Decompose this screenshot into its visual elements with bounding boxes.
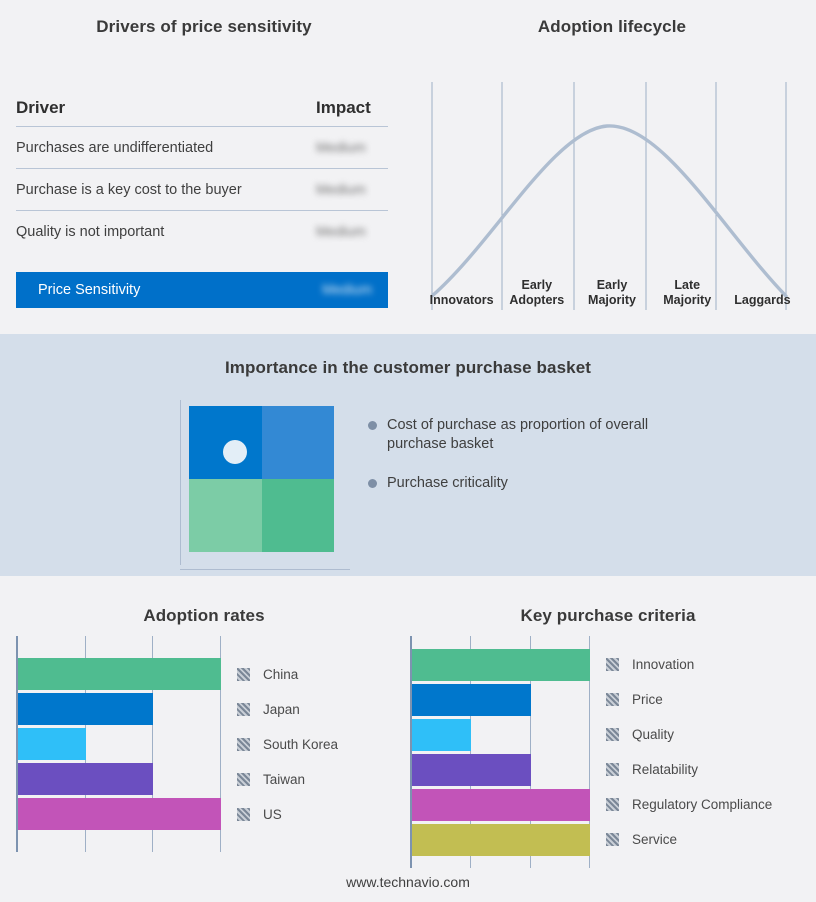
chart-legend: ChinaJapanSouth KoreaTaiwanUS [237, 636, 387, 852]
legend-label: Price [632, 692, 663, 707]
driver-label: Quality is not important [16, 224, 164, 240]
legend-item: Regulatory Compliance [606, 787, 796, 822]
impact-value-blurred: Medium [316, 139, 366, 155]
price-sensitivity-impact: Medium [322, 281, 372, 299]
driver-label: Purchases are undifferentiated [16, 140, 213, 156]
bar-row [18, 728, 223, 760]
plot-area [16, 636, 221, 852]
drivers-title: Drivers of price sensitivity [0, 17, 408, 37]
impact-value: Medium [316, 223, 388, 240]
bar-row [412, 824, 592, 856]
table-row: Purchase is a key cost to the buyer Medi… [16, 169, 388, 211]
matrix-quadrant-bottom-right [262, 479, 335, 552]
chart-legend: InnovationPriceQualityRelatabilityRegula… [606, 636, 796, 868]
lifecycle-plot: Innovators Early Adopters Early Majority… [424, 82, 800, 310]
bullet-dot-icon [368, 479, 377, 488]
lifecycle-segment-laggards: Laggards [725, 266, 800, 310]
legend-label: Service [632, 832, 677, 847]
legend-item: China [237, 657, 387, 692]
legend-swatch-icon [606, 728, 619, 741]
impact-value-blurred: Medium [316, 223, 366, 239]
bullet-label: Cost of purchase as proportion of overal… [387, 416, 668, 454]
legend-label: US [263, 807, 282, 822]
bar-row [18, 798, 223, 830]
footer-url: www.technavio.com [0, 874, 816, 890]
legend-item: Innovation [606, 647, 796, 682]
purchase-basket-title: Importance in the customer purchase bask… [0, 358, 816, 378]
legend-item: Service [606, 822, 796, 857]
bar-price [412, 684, 531, 716]
column-header-driver: Driver [16, 98, 65, 118]
bullet-dot-icon [368, 421, 377, 430]
bar-row [412, 684, 592, 716]
purchase-basket-panel: Importance in the customer purchase bask… [0, 334, 816, 576]
table-row: Quality is not important Medium [16, 211, 388, 252]
legend-label: Taiwan [263, 772, 305, 787]
driver-label: Purchase is a key cost to the buyer [16, 182, 242, 198]
bars-group [412, 636, 592, 868]
legend-swatch-icon [606, 798, 619, 811]
purchase-basket-matrix [180, 400, 350, 570]
bar-south-korea [18, 728, 86, 760]
legend-label: Regulatory Compliance [632, 797, 772, 812]
legend-swatch-icon [606, 693, 619, 706]
bar-row [412, 719, 592, 751]
legend-label: Relatability [632, 762, 698, 777]
bar-china [18, 658, 221, 690]
legend-swatch-icon [237, 773, 250, 786]
legend-label: China [263, 667, 298, 682]
price-sensitivity-label: Price Sensitivity [38, 282, 140, 298]
legend-item: Quality [606, 717, 796, 752]
adoption-rates-panel: Adoption rates ChinaJapanSouth KoreaTaiw… [0, 578, 408, 902]
bar-taiwan [18, 763, 153, 795]
purchase-basket-legend: Cost of purchase as proportion of overal… [368, 416, 668, 513]
lifecycle-segment-early-majority: Early Majority [574, 266, 649, 310]
legend-label: Quality [632, 727, 674, 742]
bar-row [18, 658, 223, 690]
bar-quality [412, 719, 471, 751]
matrix-quadrants [189, 406, 334, 552]
lifecycle-segment-late-majority: Late Majority [650, 266, 725, 310]
legend-item: Price [606, 682, 796, 717]
bar-row [412, 649, 592, 681]
matrix-quadrant-bottom-left [189, 479, 262, 552]
impact-value-blurred: Medium [316, 181, 366, 197]
matrix-quadrant-top-left [189, 406, 262, 479]
bar-row [18, 693, 223, 725]
bar-innovation [412, 649, 590, 681]
bullet-label: Purchase criticality [387, 474, 508, 493]
matrix-quadrant-top-right [262, 406, 335, 479]
bar-us [18, 798, 221, 830]
legend-swatch-icon [606, 763, 619, 776]
lifecycle-segment-innovators: Innovators [424, 266, 499, 310]
table-row: Purchases are undifferentiated Medium [16, 127, 388, 169]
legend-item: South Korea [237, 727, 387, 762]
column-header-impact: Impact [316, 98, 388, 118]
adoption-rates-title: Adoption rates [0, 606, 408, 626]
adoption-lifecycle-panel: Adoption lifecycle Innovators Early Adop… [408, 0, 816, 332]
bar-japan [18, 693, 153, 725]
legend-swatch-icon [237, 738, 250, 751]
impact-value-blurred: Medium [322, 281, 372, 297]
legend-item: US [237, 797, 387, 832]
bar-service [412, 824, 590, 856]
legend-label: Japan [263, 702, 300, 717]
bar-row [412, 789, 592, 821]
matrix-y-axis [180, 400, 181, 565]
bars-group [18, 636, 223, 852]
matrix-x-axis [180, 569, 350, 570]
legend-swatch-icon [606, 833, 619, 846]
legend-swatch-icon [237, 703, 250, 716]
key-purchase-criteria-chart: InnovationPriceQualityRelatabilityRegula… [410, 636, 810, 868]
bar-row [18, 763, 223, 795]
legend-item: Taiwan [237, 762, 387, 797]
lifecycle-segment-labels: Innovators Early Adopters Early Majority… [424, 266, 800, 310]
legend-swatch-icon [237, 808, 250, 821]
impact-value: Medium [316, 181, 388, 198]
legend-label: South Korea [263, 737, 338, 752]
drivers-panel: Drivers of price sensitivity Driver Impa… [0, 0, 408, 332]
matrix-position-dot [223, 440, 247, 464]
impact-value: Medium [316, 139, 388, 156]
legend-swatch-icon [237, 668, 250, 681]
key-purchase-criteria-title: Key purchase criteria [400, 606, 816, 626]
bar-regulatory-compliance [412, 789, 590, 821]
legend-item: Japan [237, 692, 387, 727]
legend-swatch-icon [606, 658, 619, 671]
bar-relatability [412, 754, 531, 786]
plot-area [410, 636, 590, 868]
lifecycle-segment-early-adopters: Early Adopters [499, 266, 574, 310]
price-sensitivity-highlight-row: Price Sensitivity Medium [16, 272, 388, 308]
bar-row [412, 754, 592, 786]
table-header-row: Driver Impact [16, 90, 388, 127]
list-item: Cost of purchase as proportion of overal… [368, 416, 668, 454]
legend-item: Relatability [606, 752, 796, 787]
adoption-lifecycle-title: Adoption lifecycle [408, 17, 816, 37]
list-item: Purchase criticality [368, 474, 668, 493]
drivers-table: Driver Impact Purchases are undifferenti… [16, 90, 388, 252]
legend-label: Innovation [632, 657, 694, 672]
adoption-rates-chart: ChinaJapanSouth KoreaTaiwanUS [16, 636, 392, 852]
key-purchase-criteria-panel: Key purchase criteria InnovationPriceQua… [400, 578, 816, 902]
